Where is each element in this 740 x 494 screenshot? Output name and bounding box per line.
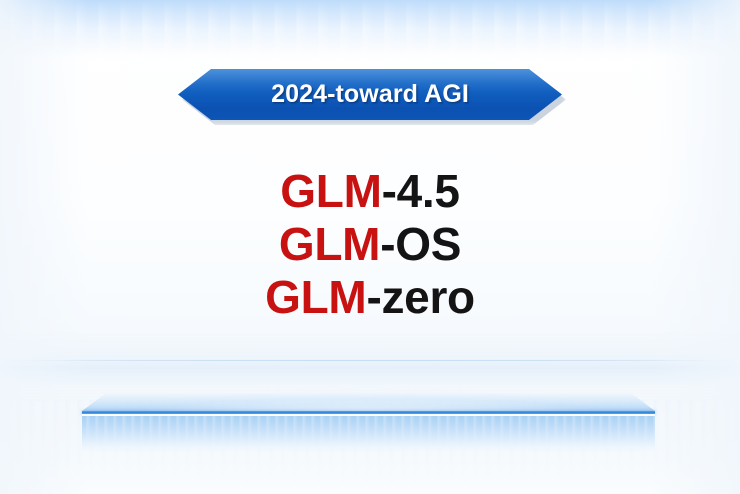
product-line: GLM-OS xyxy=(279,221,461,267)
product-brand: GLM xyxy=(280,165,381,217)
banner-chevron-shape: 2024-toward AGI xyxy=(178,69,562,120)
product-variant: -zero xyxy=(366,271,474,323)
product-name-list: GLM-4.5 GLM-OS GLM-zero xyxy=(0,168,740,320)
presentation-slide: 2024-toward AGI GLM-4.5 GLM-OS GLM-zero xyxy=(0,0,740,494)
product-brand: GLM xyxy=(279,218,380,270)
product-brand: GLM xyxy=(265,271,366,323)
stage-platform xyxy=(82,393,655,453)
product-line: GLM-zero xyxy=(265,274,475,320)
title-banner: 2024-toward AGI xyxy=(178,69,562,120)
stage-face-streaks xyxy=(82,416,655,453)
product-line: GLM-4.5 xyxy=(280,168,459,214)
product-variant: -4.5 xyxy=(382,165,460,217)
stage-top-sheen xyxy=(82,393,655,411)
banner-label: 2024-toward AGI xyxy=(271,80,469,109)
product-variant: -OS xyxy=(380,218,461,270)
